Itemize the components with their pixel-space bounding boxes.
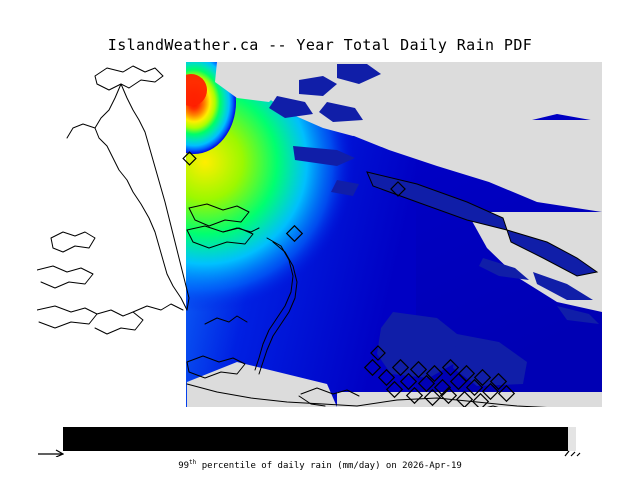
colorbar-overflow-cap bbox=[568, 427, 576, 451]
map-panel[interactable] bbox=[37, 62, 602, 407]
caption-percentile-number: 99 bbox=[178, 461, 189, 471]
figure-caption: 99th percentile of daily rain (mm/day) o… bbox=[0, 459, 640, 471]
colorbar-gradient bbox=[63, 427, 568, 451]
colorbar-tick-right bbox=[563, 449, 585, 457]
colorbar[interactable] bbox=[63, 427, 576, 451]
map-raster bbox=[37, 62, 602, 407]
colorbar-tick-left bbox=[38, 449, 64, 457]
page-title: IslandWeather.ca -- Year Total Daily Rai… bbox=[0, 36, 640, 54]
caption-description: percentile of daily rain (mm/day) on 202… bbox=[196, 461, 462, 471]
weather-map-figure: IslandWeather.ca -- Year Total Daily Rai… bbox=[0, 0, 640, 480]
